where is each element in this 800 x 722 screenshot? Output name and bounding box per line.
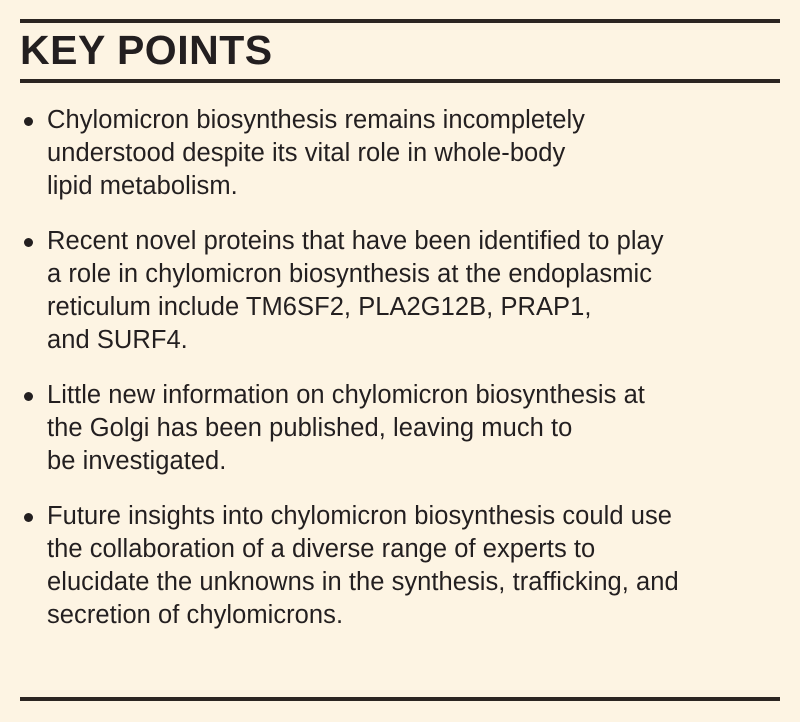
- bullet-dot-icon: [24, 513, 33, 522]
- list-item: Recent novel proteins that have been ide…: [20, 225, 782, 357]
- list-item: Future insights into chylomicron biosynt…: [20, 500, 782, 632]
- list-item: Chylomicron biosynthesis remains incompl…: [20, 104, 782, 203]
- list-item-text: Chylomicron biosynthesis remains incompl…: [47, 104, 782, 203]
- list-item-text: Recent novel proteins that have been ide…: [47, 225, 782, 357]
- list-item: Little new information on chylomicron bi…: [20, 379, 782, 478]
- list-item-text: Future insights into chylomicron biosynt…: [47, 500, 782, 632]
- bullet-dot-icon: [24, 117, 33, 126]
- divider-bottom: [20, 697, 780, 701]
- divider-top: [20, 19, 780, 23]
- bullet-dot-icon: [24, 392, 33, 401]
- key-points-box: KEY POINTS Chylomicron biosynthesis rema…: [0, 0, 800, 722]
- bullet-dot-icon: [24, 238, 33, 247]
- key-points-list: Chylomicron biosynthesis remains incompl…: [20, 104, 782, 632]
- list-item-text: Little new information on chylomicron bi…: [47, 379, 782, 478]
- page-title: KEY POINTS: [20, 27, 273, 73]
- divider-under-title: [20, 79, 780, 83]
